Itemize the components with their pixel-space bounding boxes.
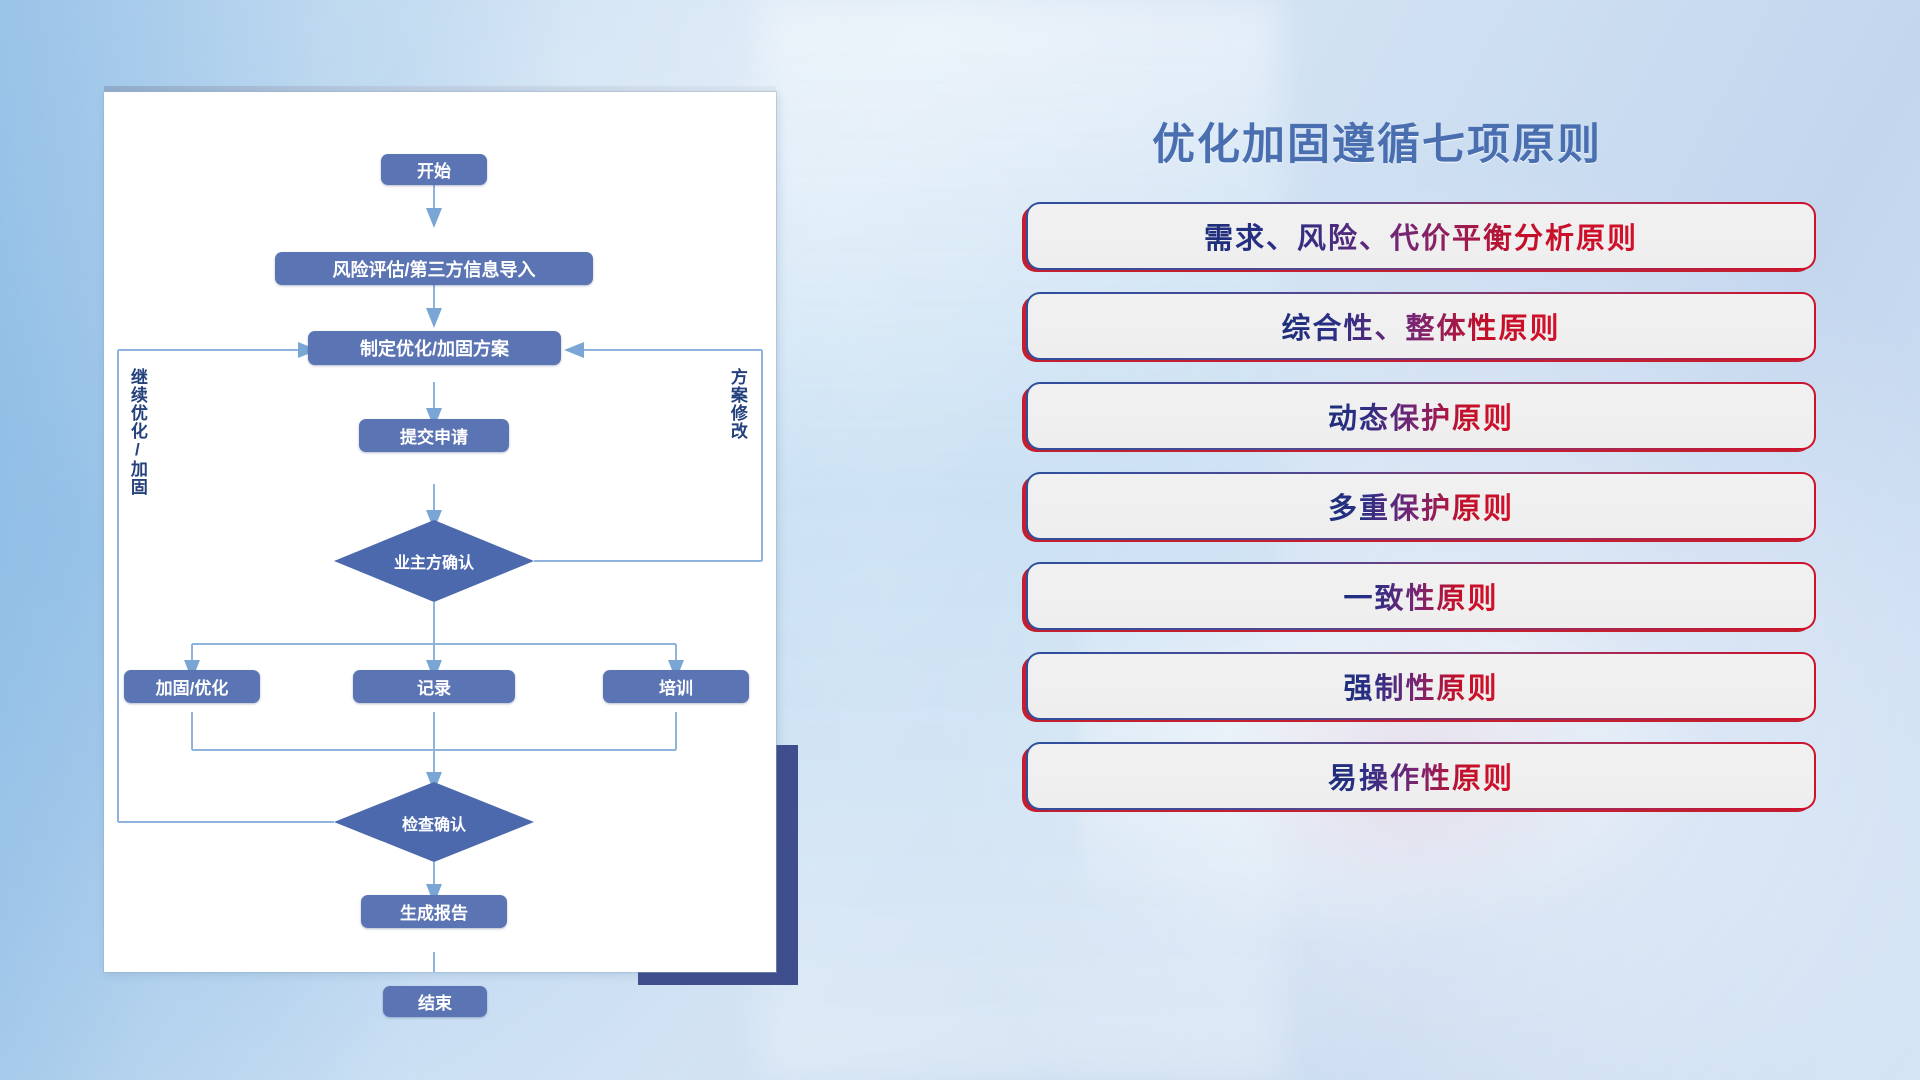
- flow-node-risk-assessment[interactable]: 风险评估/第三方信息导入: [275, 252, 593, 285]
- page-title: 优化加固遵循七项原则: [1152, 110, 1602, 172]
- principle-card[interactable]: 易操作性原则: [1022, 742, 1840, 808]
- flow-node-label: 开始: [417, 157, 451, 182]
- principles-list: 需求、风险、代价平衡分析原则 综合性、整体性原则 动态保护原则 多重保护原则 一: [1022, 202, 1840, 832]
- principle-card[interactable]: 需求、风险、代价平衡分析原则: [1022, 202, 1840, 268]
- loop-label-continue-optimize: 继续优化/加固: [128, 368, 146, 496]
- flow-node-label: 生成报告: [400, 899, 468, 924]
- principle-card[interactable]: 多重保护原则: [1022, 472, 1840, 538]
- principle-label: 需求、风险、代价平衡分析原则: [1204, 215, 1638, 257]
- principle-card[interactable]: 一致性原则: [1022, 562, 1840, 628]
- card-body: 动态保护原则: [1026, 382, 1816, 450]
- principle-card[interactable]: 综合性、整体性原则: [1022, 292, 1840, 358]
- card-body: 需求、风险、代价平衡分析原则: [1026, 202, 1816, 270]
- flow-node-label: 记录: [417, 674, 451, 699]
- principle-label: 一致性原则: [1343, 575, 1498, 617]
- flow-node-label: 制定优化/加固方案: [360, 335, 509, 361]
- principle-label: 易操作性原则: [1328, 755, 1514, 797]
- flow-node-label: 提交申请: [400, 423, 468, 448]
- flow-node-start[interactable]: 开始: [381, 154, 487, 185]
- principle-label: 动态保护原则: [1328, 395, 1514, 437]
- principle-card[interactable]: 强制性原则: [1022, 652, 1840, 718]
- flow-node-label: 加固/优化: [156, 674, 229, 699]
- principle-card[interactable]: 动态保护原则: [1022, 382, 1840, 448]
- principle-label: 强制性原则: [1343, 665, 1498, 707]
- card-body: 多重保护原则: [1026, 472, 1816, 540]
- principle-label: 多重保护原则: [1328, 485, 1514, 527]
- flow-node-submit-application[interactable]: 提交申请: [359, 419, 509, 452]
- card-body: 一致性原则: [1026, 562, 1816, 630]
- flowchart-canvas: 开始 风险评估/第三方信息导入 制定优化/加固方案 提交申请 业主方确认 加固/…: [104, 92, 776, 972]
- flow-node-make-plan[interactable]: 制定优化/加固方案: [308, 331, 561, 365]
- decision-owner-confirm[interactable]: [334, 520, 534, 602]
- principles-panel: 优化加固遵循七项原则 需求、风险、代价平衡分析原则 综合性、整体性原则 动态保护…: [1000, 96, 1860, 996]
- loop-label-plan-revision: 方案修改: [728, 368, 746, 440]
- flow-node-label: 结束: [418, 989, 452, 1014]
- flow-node-training[interactable]: 培训: [603, 670, 749, 703]
- flow-node-label: 培训: [659, 674, 693, 699]
- decision-check-confirm[interactable]: [334, 782, 534, 862]
- flow-node-label: 风险评估/第三方信息导入: [333, 256, 536, 282]
- flowchart-decision-shapes: [104, 92, 776, 972]
- flow-node-record[interactable]: 记录: [353, 670, 515, 703]
- card-body: 强制性原则: [1026, 652, 1816, 720]
- card-body: 易操作性原则: [1026, 742, 1816, 810]
- card-body: 综合性、整体性原则: [1026, 292, 1816, 360]
- flow-node-reinforce-optimize[interactable]: 加固/优化: [124, 670, 260, 703]
- flow-node-end[interactable]: 结束: [383, 986, 487, 1017]
- principle-label: 综合性、整体性原则: [1281, 305, 1560, 347]
- flow-node-generate-report[interactable]: 生成报告: [361, 895, 507, 928]
